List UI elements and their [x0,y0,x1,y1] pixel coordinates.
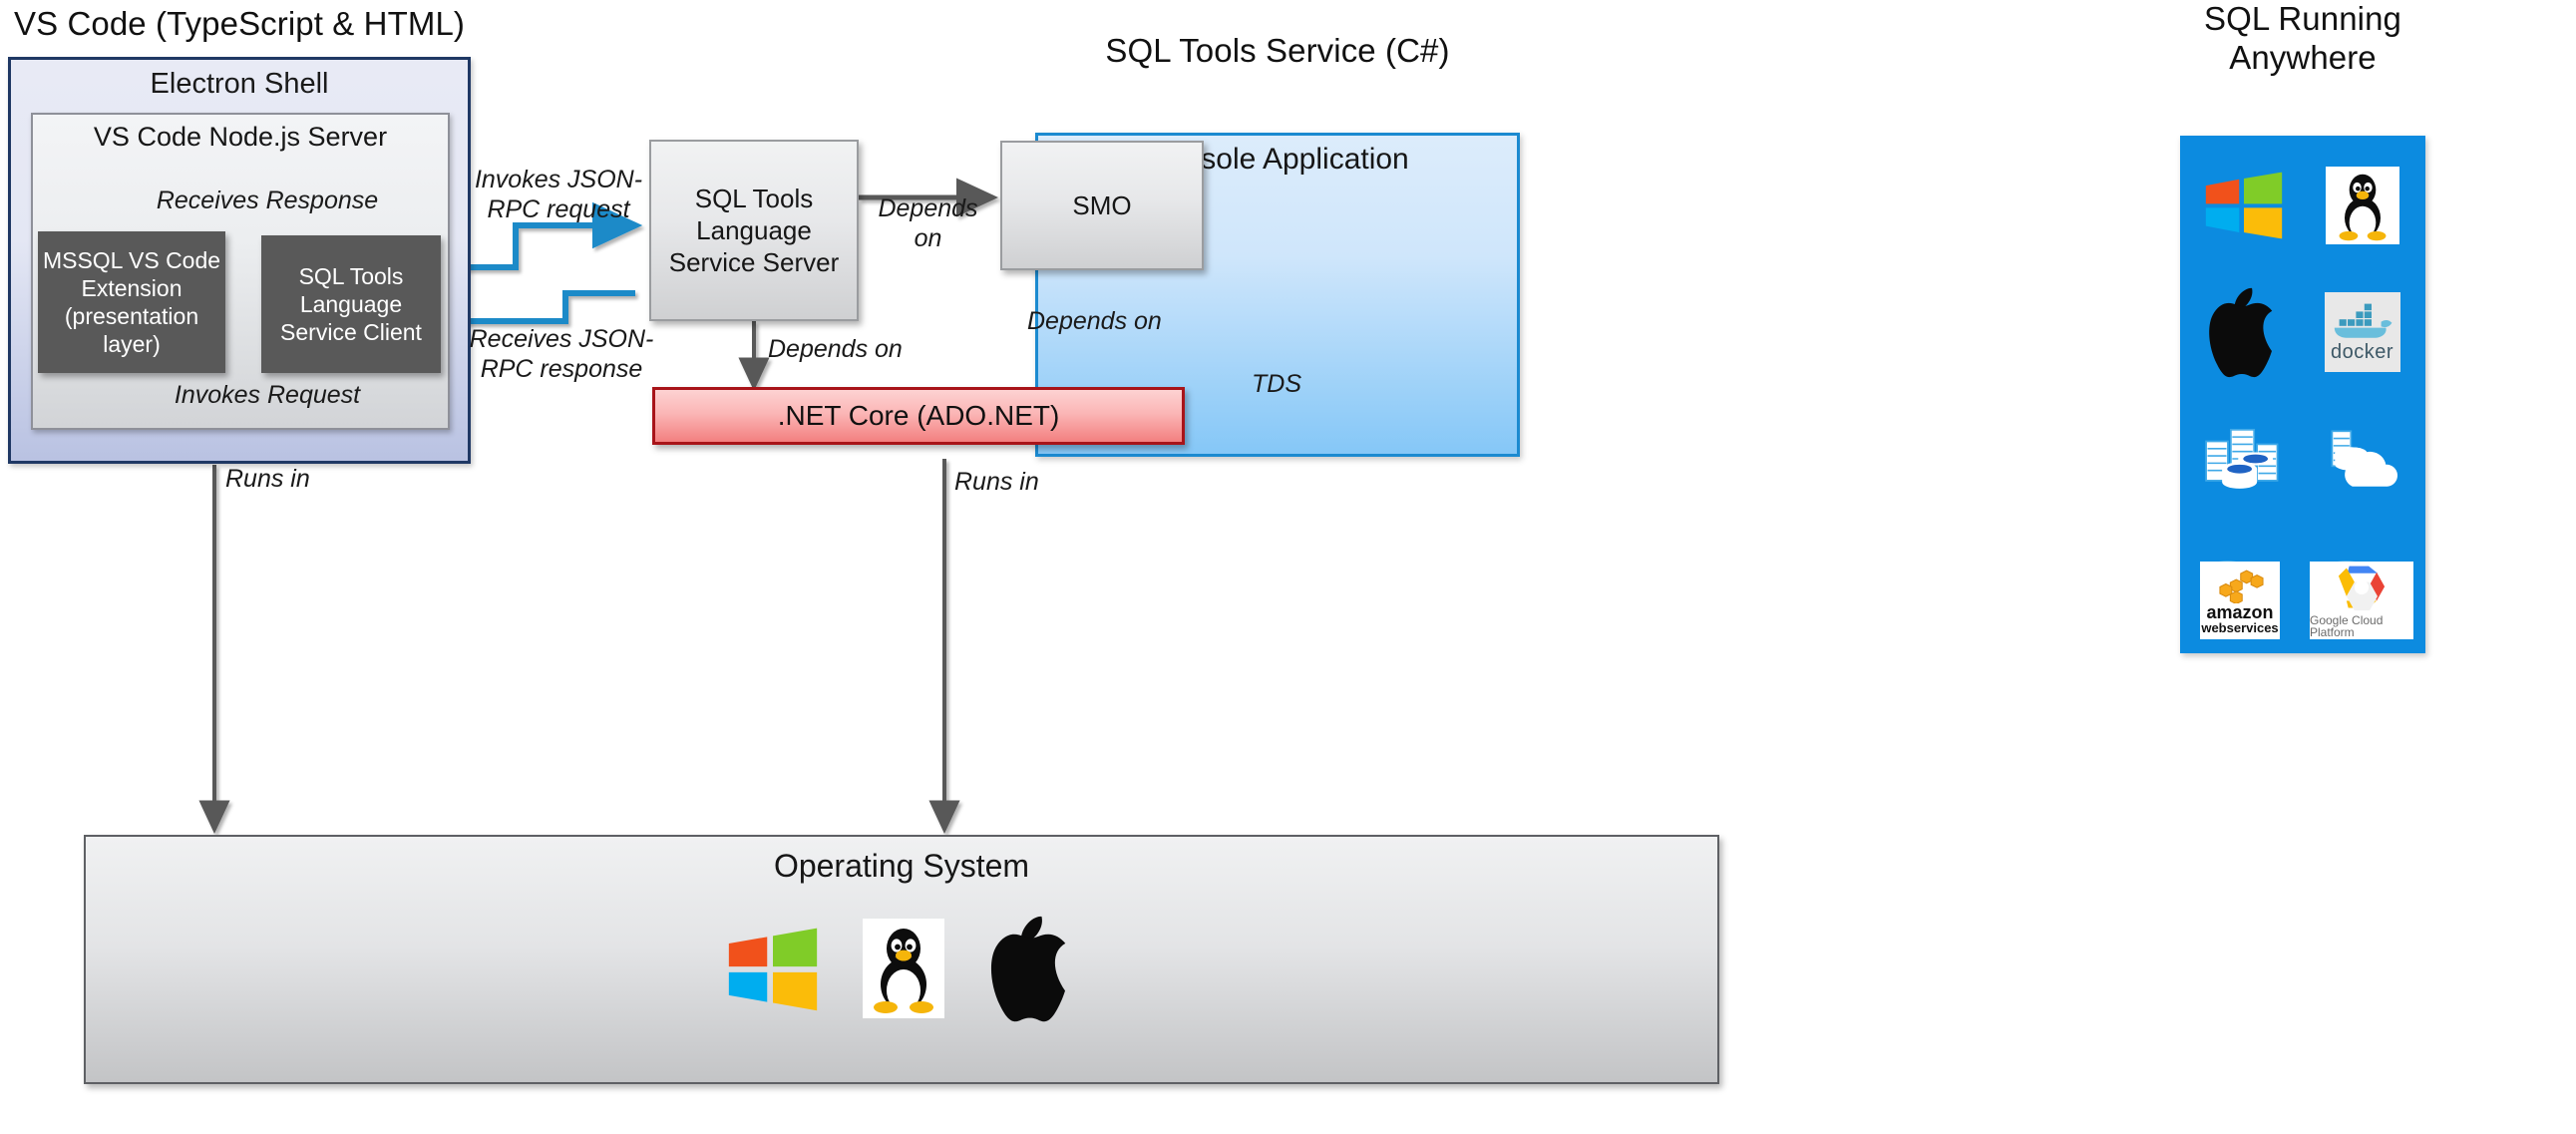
label-invokes-json-rpc-request: Invokes JSON- RPC request [469,165,648,224]
apple-logo [986,915,1078,1022]
electron-shell-title: Electron Shell [11,68,468,101]
google-cloud-platform-logo: Google Cloud Platform [2310,562,2413,639]
aws-sub-wordmark: webservices [2201,621,2278,634]
windows-logo [2204,171,2284,240]
sql-tools-language-service-server-box[interactable]: SQL Tools Language Service Server [649,140,859,321]
mssql-vs-code-extension-box[interactable]: MSSQL VS Code Extension (presentation la… [38,231,225,373]
operating-system-panel: Operating System [84,835,1719,1084]
gcp-wordmark: Google Cloud Platform [2310,614,2413,638]
architecture-diagram: VS Code (TypeScript & HTML) SQL Tools Se… [0,0,2576,1134]
label-runs-in-center: Runs in [954,467,1114,497]
label-depends-on-core-right: Depends on [1027,306,1207,336]
operating-system-logos [86,915,1717,1022]
caption-vs-code: VS Code (TypeScript & HTML) [8,5,471,44]
docker-logo: docker [2325,292,2400,372]
azure-sql-vm-cloud-icon [2319,424,2406,494]
windows-logo [725,921,821,1016]
label-receives-response: Receives Response [148,186,387,215]
sql-running-anywhere-panel: docker [2180,136,2425,653]
label-tds: TDS [1222,369,1331,399]
apple-logo [2205,286,2283,378]
linux-tux-logo [2326,167,2399,244]
smo-box[interactable]: SMO [1000,141,1204,270]
label-depends-on-smo: Depends on [866,193,990,253]
caption-sql-tools-service: SQL Tools Service (C#) [1035,32,1520,71]
on-premises-datacenter-icon [2200,424,2288,494]
label-invokes-request: Invokes Request [148,380,387,410]
aws-wordmark: amazon [2206,603,2273,621]
dotnet-core-ado-net-box[interactable]: .NET Core (ADO.NET) [652,387,1185,445]
caption-sql-running-anywhere: SQL Running Anywhere [2162,0,2443,78]
vs-code-node-server-title: VS Code Node.js Server [33,122,448,153]
linux-tux-logo [863,919,944,1018]
label-receives-json-rpc-response: Receives JSON- RPC response [467,324,656,384]
amazon-web-services-logo: amazon webservices [2200,562,2280,639]
docker-label: docker [2331,341,2393,364]
label-depends-on-core-left: Depends on [768,334,947,364]
sql-tools-language-service-client-box[interactable]: SQL Tools Language Service Client [261,235,441,373]
label-runs-in-left: Runs in [225,464,385,494]
operating-system-title: Operating System [86,848,1717,885]
